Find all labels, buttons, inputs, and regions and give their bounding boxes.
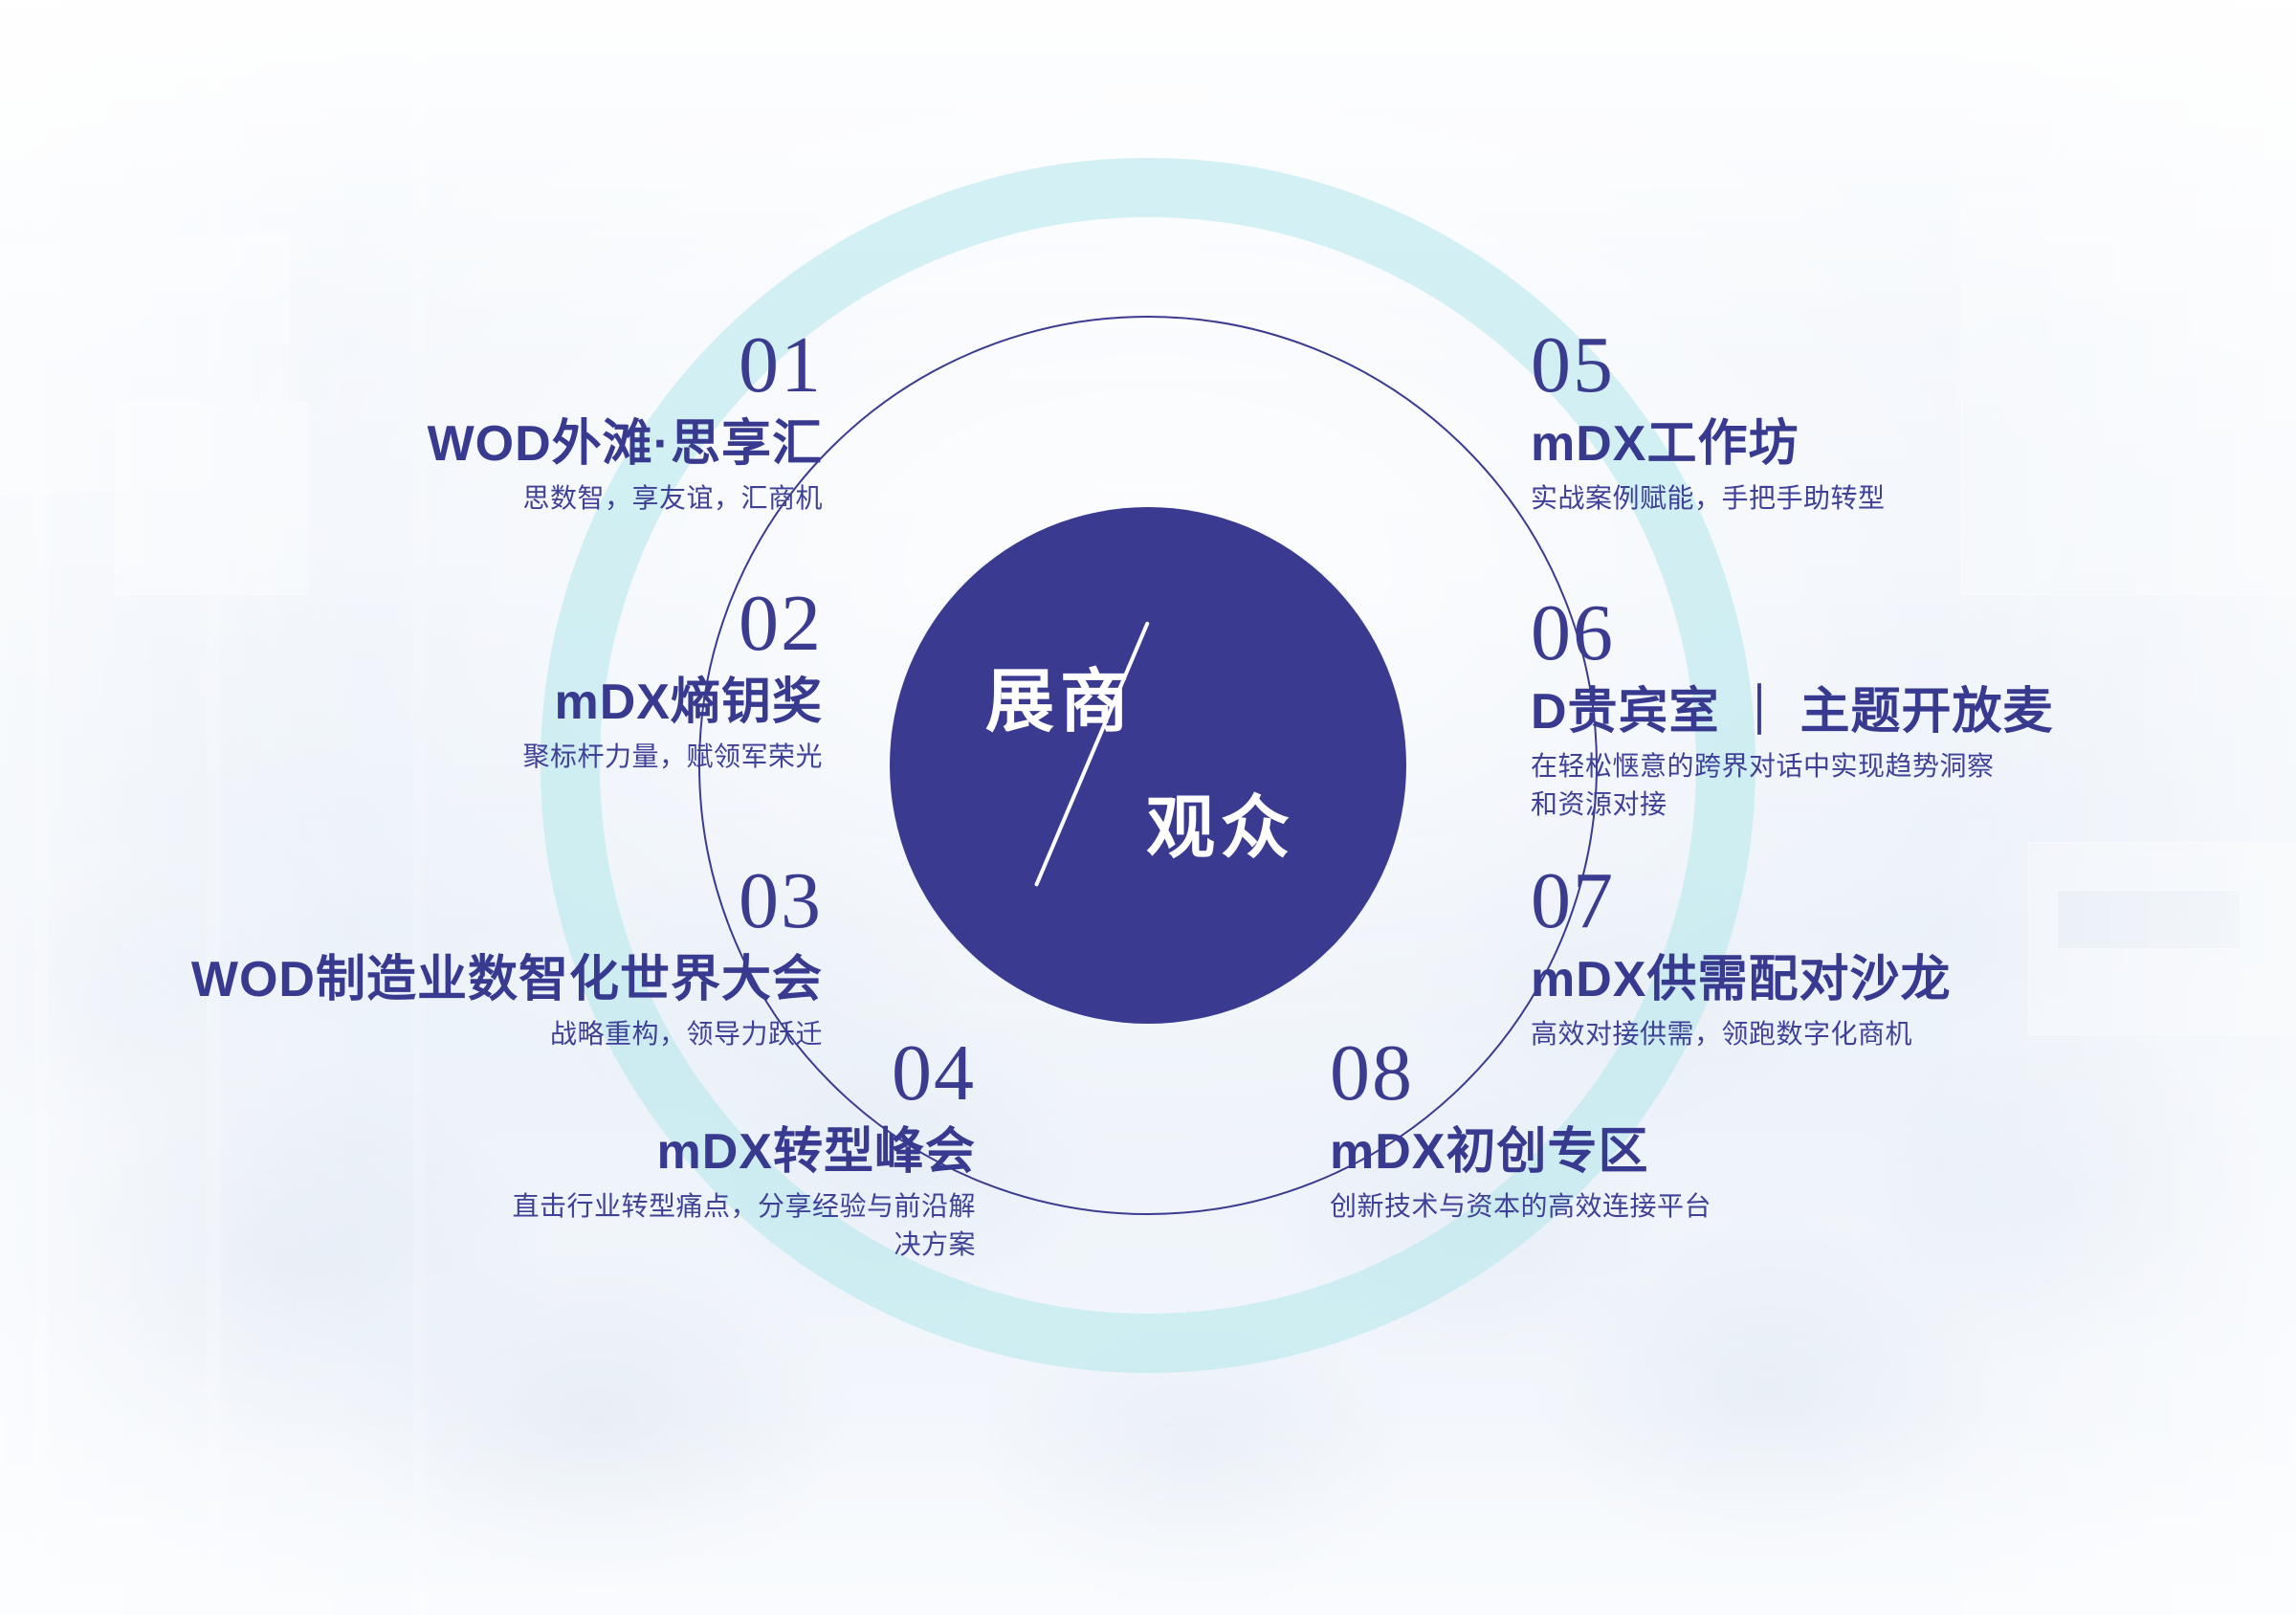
item-04-subtitle-line-2: 决方案 xyxy=(402,1226,976,1264)
item-08-number: 08 xyxy=(1330,1033,1999,1114)
item-01-title: WOD外滩·思享汇 xyxy=(287,415,823,474)
item-02[interactable]: 02 mDX熵钥奖 聚标杆力量，赋领军荣光 xyxy=(287,584,823,776)
item-04[interactable]: 04 mDX转型峰会 直击行业转型痛点，分享经验与前沿解 决方案 xyxy=(402,1033,976,1264)
item-03-title: WOD制造业数智化世界大会 xyxy=(96,951,823,1009)
item-05-title: mDX工作坊 xyxy=(1531,415,2219,474)
item-03-number: 03 xyxy=(96,861,823,941)
item-05-number: 05 xyxy=(1531,325,2219,406)
center-circle: 展商 观众 xyxy=(890,507,1406,1024)
item-02-number: 02 xyxy=(287,584,823,664)
item-05[interactable]: 05 mDX工作坊 实战案例赋能，手把手助转型 xyxy=(1531,325,2219,518)
item-06-title: D贵宾室 ｜ 主题开放麦 xyxy=(1531,683,2258,741)
item-08-subtitle-line-1: 创新技术与资本的高效连接平台 xyxy=(1330,1187,1999,1226)
item-03[interactable]: 03 WOD制造业数智化世界大会 战略重构，领导力跃迁 xyxy=(96,861,823,1053)
item-04-number: 04 xyxy=(402,1033,976,1114)
item-02-subtitle-line-1: 聚标杆力量，赋领军荣光 xyxy=(287,738,823,776)
item-07[interactable]: 07 mDX供需配对沙龙 高效对接供需，领跑数字化商机 xyxy=(1531,861,2200,1053)
infographic-canvas: 展商 观众 01 WOD外滩·思享汇 思数智，享友谊，汇商机 02 mDX熵钥奖… xyxy=(0,0,2296,1615)
item-04-title: mDX转型峰会 xyxy=(402,1123,976,1182)
item-01-number: 01 xyxy=(287,325,823,406)
item-06-subtitle-line-1: 在轻松惬意的跨界对话中实现趋势洞察 xyxy=(1531,747,2258,785)
center-slash-divider xyxy=(1034,621,1150,887)
item-04-subtitle-line-1: 直击行业转型痛点，分享经验与前沿解 xyxy=(402,1187,976,1226)
item-02-title: mDX熵钥奖 xyxy=(287,674,823,732)
item-06[interactable]: 06 D贵宾室 ｜ 主题开放麦 在轻松惬意的跨界对话中实现趋势洞察 和资源对接 xyxy=(1531,593,2258,824)
center-label-visitor: 观众 xyxy=(1146,794,1295,863)
item-01-subtitle-line-1: 思数智，享友谊，汇商机 xyxy=(287,479,823,518)
item-08-title: mDX初创专区 xyxy=(1330,1123,1999,1182)
item-06-subtitle-line-2: 和资源对接 xyxy=(1531,785,2258,824)
item-07-title: mDX供需配对沙龙 xyxy=(1531,951,2200,1009)
item-05-subtitle-line-1: 实战案例赋能，手把手助转型 xyxy=(1531,479,2219,518)
item-08[interactable]: 08 mDX初创专区 创新技术与资本的高效连接平台 xyxy=(1330,1033,1999,1226)
item-07-number: 07 xyxy=(1531,861,2200,941)
item-01[interactable]: 01 WOD外滩·思享汇 思数智，享友谊，汇商机 xyxy=(287,325,823,518)
item-06-number: 06 xyxy=(1531,593,2258,674)
